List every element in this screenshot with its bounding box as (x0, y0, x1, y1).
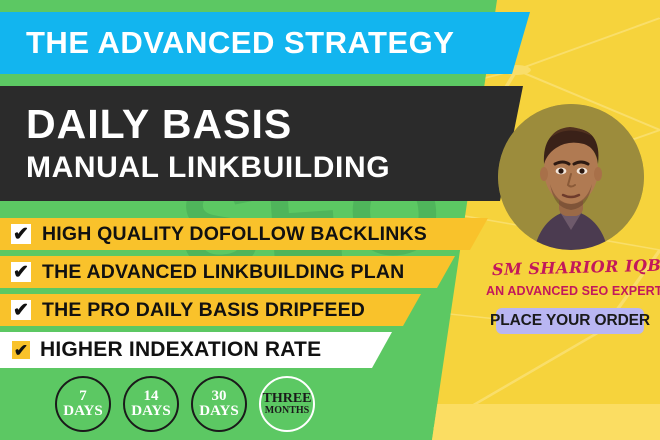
title-line-secondary: MANUAL LINKBUILDING (26, 152, 530, 184)
feature-item: ✔ THE ADVANCED LINKBUILDING PLAN (0, 256, 520, 288)
check-icon: ✔ (12, 341, 30, 359)
duration-badge: 7 DAYS (55, 376, 111, 432)
place-your-order-button[interactable]: PLACE YOUR ORDER (496, 308, 644, 334)
badge-number: THREE (262, 392, 311, 406)
duration-badge-list: 7 DAYS 14 DAYS 30 DAYS THREE MONTHS (55, 376, 315, 432)
check-icon: ✔ (11, 300, 31, 320)
feature-item: ✔ HIGHER INDEXATION RATE (0, 332, 520, 368)
badge-number: 30 (212, 389, 227, 404)
feature-label: HIGH QUALITY DOFOLLOW BACKLINKS (42, 223, 427, 246)
badge-number: 14 (144, 389, 159, 404)
badge-unit: DAYS (131, 404, 170, 419)
badge-unit: DAYS (199, 404, 238, 419)
feature-item: ✔ THE PRO DAILY BASIS DRIPFEED (0, 294, 520, 326)
duration-badge: THREE MONTHS (259, 376, 315, 432)
seller-role: AN ADVANCED SEO EXPERT (486, 284, 660, 298)
feature-label: THE ADVANCED LINKBUILDING PLAN (42, 261, 404, 284)
duration-badge: 30 DAYS (191, 376, 247, 432)
gig-thumbnail-poster: SEO (0, 0, 660, 440)
feature-label: HIGHER INDEXATION RATE (40, 338, 321, 362)
feature-item: ✔ HIGH QUALITY DOFOLLOW BACKLINKS (0, 218, 520, 250)
badge-unit: MONTHS (265, 406, 309, 416)
check-icon: ✔ (11, 262, 31, 282)
seller-avatar (498, 104, 644, 250)
badge-unit: DAYS (63, 404, 102, 419)
feature-list: ✔ HIGH QUALITY DOFOLLOW BACKLINKS ✔ THE … (0, 218, 520, 374)
ribbon-label: THE ADVANCED STRATEGY (26, 25, 454, 61)
check-icon: ✔ (11, 224, 31, 244)
title-line-primary: DAILY BASIS (26, 103, 530, 146)
badge-number: 7 (79, 389, 87, 404)
feature-label: THE PRO DAILY BASIS DRIPFEED (42, 299, 365, 322)
title-block: DAILY BASIS MANUAL LINKBUILDING (0, 86, 530, 201)
duration-badge: 14 DAYS (123, 376, 179, 432)
avatar-portrait-image (498, 104, 644, 250)
strategy-ribbon: THE ADVANCED STRATEGY (0, 12, 530, 74)
